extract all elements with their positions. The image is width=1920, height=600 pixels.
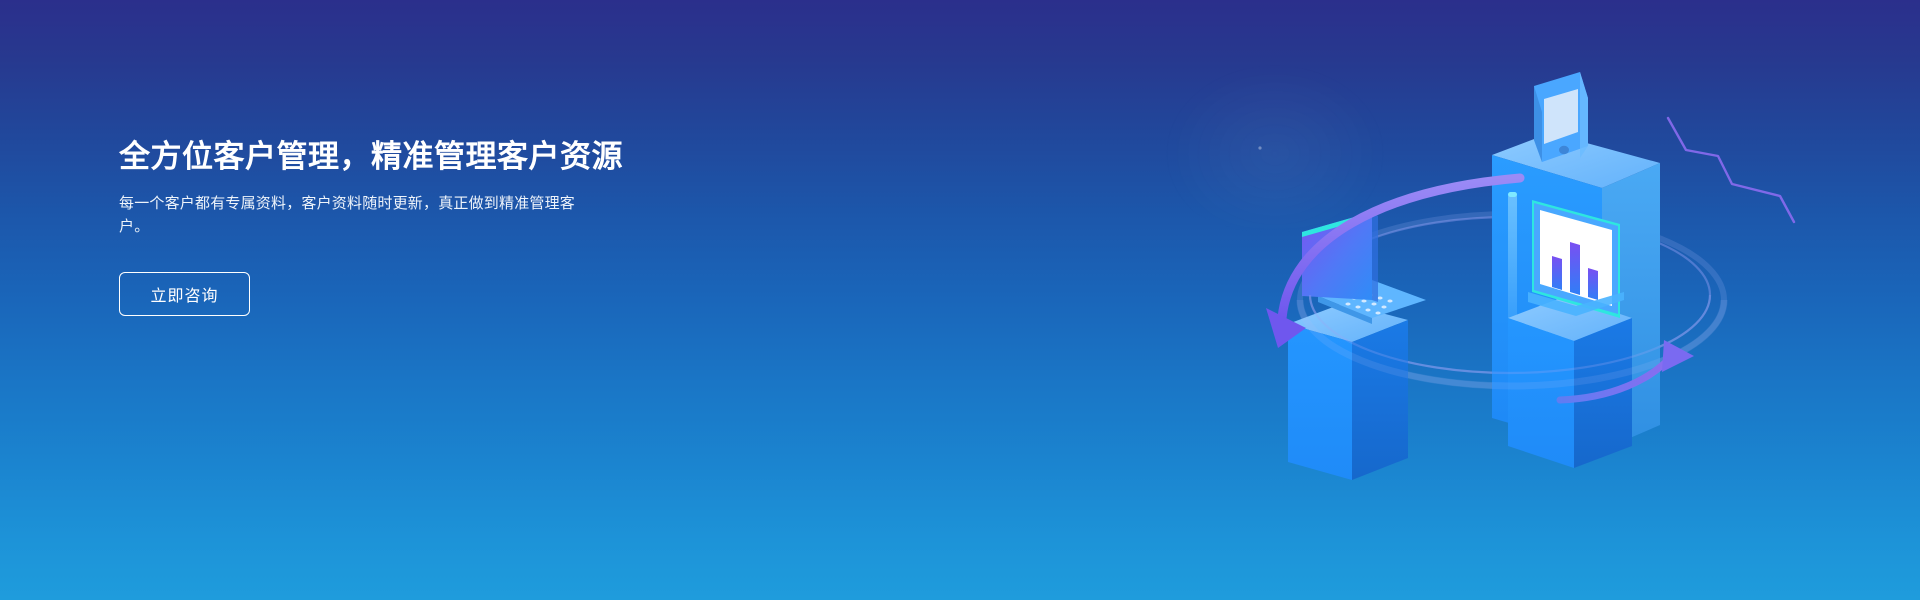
- page-title: 全方位客户管理，精准管理客户资源: [119, 136, 739, 178]
- monitor-chart-bars: [1552, 242, 1598, 300]
- pillar-left: [1288, 303, 1408, 480]
- consult-now-button[interactable]: 立即咨询: [119, 272, 250, 316]
- device-laptop: [1302, 212, 1426, 324]
- pillar-center: [1492, 133, 1660, 450]
- trend-line: [1668, 118, 1794, 222]
- cta-container: 立即咨询: [119, 272, 739, 316]
- arrow-right-out-icon: [1560, 340, 1694, 400]
- device-tablet: [1534, 72, 1588, 162]
- arrow-left-down-icon: [1266, 178, 1520, 348]
- orbit-ring-back: [1300, 214, 1724, 386]
- pillar-right: [1508, 296, 1632, 468]
- hero-copy-block: 全方位客户管理，精准管理客户资源 每一个客户都有专属资料，客户资料随时更新，真正…: [119, 136, 739, 316]
- device-monitor: [1528, 200, 1624, 318]
- hero-banner: 全方位客户管理，精准管理客户资源 每一个客户都有专属资料，客户资料随时更新，真正…: [0, 0, 1920, 600]
- hero-illustration: [1220, 0, 1920, 600]
- orbit-ring-front: [1300, 295, 1724, 386]
- background-blob: [1160, 60, 1390, 230]
- hero-subtitle: 每一个客户都有专属资料，客户资料随时更新，真正做到精准管理客户。: [119, 192, 601, 238]
- sparkle-dot: [1258, 146, 1261, 149]
